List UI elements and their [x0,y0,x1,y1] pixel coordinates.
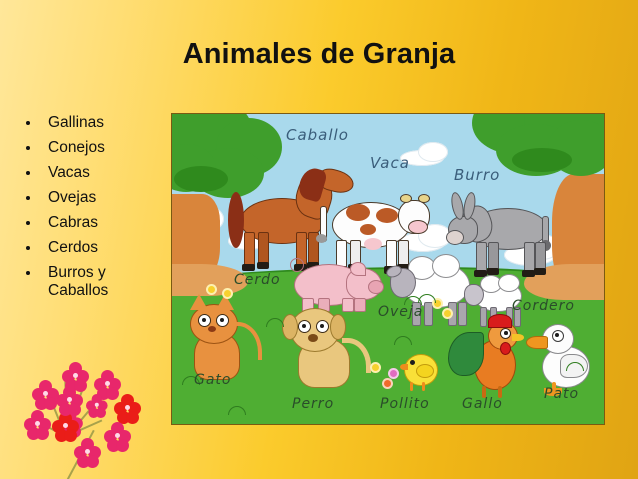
flower-icon [390,370,397,377]
dog-figure [282,304,378,388]
chick-leg [422,382,425,391]
rooster-wattle [500,342,511,355]
horse-hoof [257,262,269,269]
chick-figure [400,352,444,394]
list-item-label: Cabras [48,214,166,232]
label-pollito: Pollito [380,396,430,412]
dog-pupil [320,324,324,328]
pig-ear [350,262,366,276]
flower-bouquet-decoration [0,352,170,479]
bullet-dot-icon [26,271,30,275]
flower-icon [372,364,379,371]
sheep-wool-puff [432,254,460,278]
donkey-hoof [534,268,546,275]
bullet-dot-icon [26,121,30,125]
rooster-figure [454,316,534,398]
list-item-label: Conejos [48,139,166,157]
list-item: Conejos [18,139,166,157]
duck-beak [526,336,548,349]
label-cerdo: Cerdo [234,272,281,288]
tree-foliage-shadow [174,166,228,192]
dog-tail [342,338,371,373]
bullet-dot-icon [26,246,30,250]
list-item-label: Vacas [48,164,166,182]
rooster-pupil [504,331,508,335]
flower-icon [224,290,231,297]
label-gato: Gato [194,372,231,388]
list-item: Ovejas [18,189,166,207]
cat-figure [186,296,266,378]
dog-pupil [302,324,306,328]
list-item: Cabras [18,214,166,232]
list-item: Vacas [18,164,166,182]
label-oveja: Oveja [378,304,423,320]
cat-tail [232,322,262,360]
donkey-muzzle [446,230,464,245]
label-perro: Perro [292,396,334,412]
cow-horn [418,194,430,203]
list-item-label: Cerdos [48,239,166,257]
pig-tail [290,258,304,272]
chick-wing [416,364,434,378]
horse-tail [228,192,244,248]
chick-eye [410,360,415,365]
cow-patch [346,204,370,221]
flower-icon [208,286,215,293]
cat-pupil [202,318,206,322]
list-item: Burros y Caballos [18,264,166,300]
rooster-comb [488,314,512,328]
list-item-label: Ovejas [48,189,166,207]
dog-nose [308,334,318,342]
tree-foliage-shadow [512,148,572,172]
label-pato: Pato [544,386,579,402]
flower-icon [384,380,391,387]
bullet-dot-icon [26,171,30,175]
cat-nose [208,326,216,332]
list-item-label: Burros y Caballos [48,264,166,300]
bullet-dot-icon [26,146,30,150]
cow-snout [408,220,428,234]
flower-icon [444,310,451,317]
rooster-tail [448,332,484,376]
chick-leg [410,382,413,391]
cow-patch [376,208,398,223]
cow-patch [360,224,376,235]
label-caballo: Caballo [286,126,349,144]
slide: Animales de Granja Gallinas Conejos Vaca… [0,0,638,479]
list-item-label: Gallinas [48,114,166,132]
duck-pupil [555,333,559,337]
cow-horn [400,194,412,203]
rooster-beak [512,334,524,341]
lamb-wool-puff [498,274,520,292]
sheep-leg [424,302,433,326]
label-vaca: Vaca [370,154,410,172]
dog-ear [282,314,298,340]
dog-ear [330,314,346,340]
pig-snout [368,280,384,294]
label-cordero: Cordero [512,298,575,314]
cow-udder [364,238,382,250]
list-item: Cerdos [18,239,166,257]
chick-beak [400,364,408,370]
cat-pupil [220,318,224,322]
cat-head [190,304,238,344]
cow-tail-tuft [316,234,327,243]
farm-illustration: Caballo Vaca Burro Cerdo Oveja Cordero G… [171,113,605,425]
label-burro: Burro [454,166,500,184]
duck-figure [528,322,600,396]
horse-hoof [242,264,255,271]
label-gallo: Gallo [462,396,503,412]
page-title: Animales de Granja [0,38,638,71]
bullet-dot-icon [26,196,30,200]
cloud-icon [418,142,448,162]
list-item: Gallinas [18,114,166,132]
bullet-list: Gallinas Conejos Vacas Ovejas Cabras Cer… [18,114,166,307]
bullet-dot-icon [26,221,30,225]
cat-ear [190,294,208,310]
